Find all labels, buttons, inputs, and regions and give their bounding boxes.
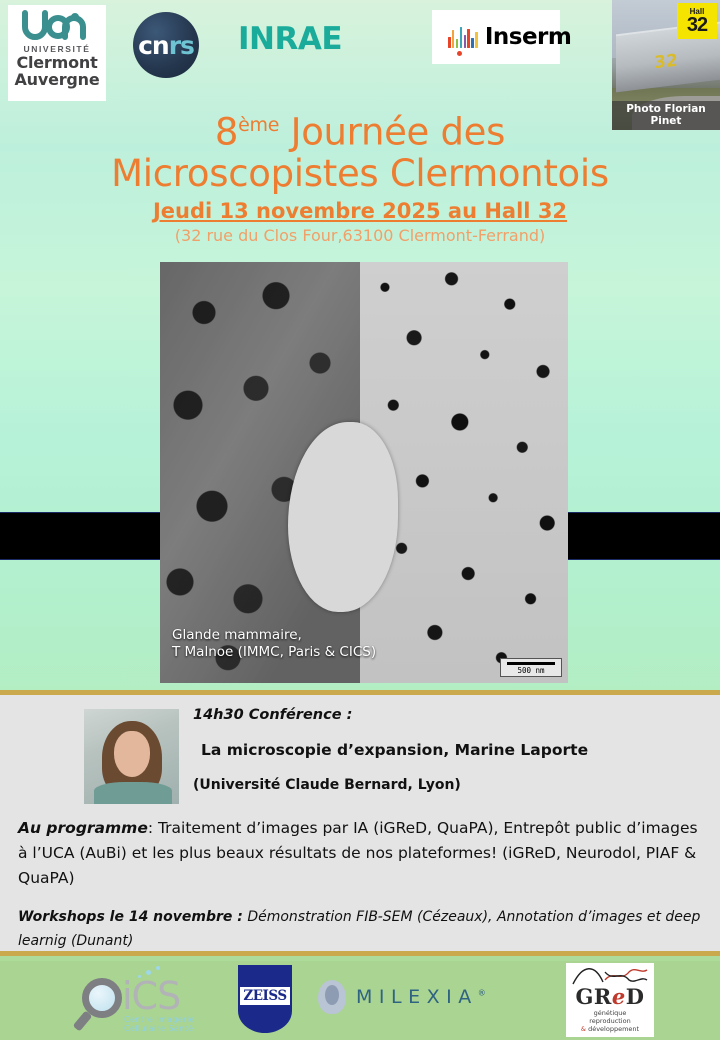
micrograph-caption: Glande mammaire, T Malnoe (IMMC, Paris &… <box>172 627 376 661</box>
program-card: 14h30 Conférence : La microscopie d’expa… <box>0 690 720 956</box>
micrograph-caption-line2: T Malnoe (IMMC, Paris & CICS) <box>172 644 376 661</box>
zeiss-label: ZEISS <box>240 987 289 1005</box>
hall32-badge: Hall 32 <box>677 3 717 39</box>
inserm-bars-icon <box>448 26 478 48</box>
uca-logo: UNIVERSITÉ Clermont Auvergne <box>8 5 106 101</box>
event-ordinal: 8 <box>215 110 238 153</box>
event-title-line1: 8ème Journée des <box>0 104 720 153</box>
inrae-logo: INRAE <box>238 18 370 60</box>
uca-clermont-label: Clermont <box>16 54 97 71</box>
gred-d: D <box>626 984 645 1009</box>
keynote-row: 14h30 Conférence : La microscopie d’expa… <box>18 703 702 804</box>
milexia-logo: MILEXIA® <box>318 979 518 1015</box>
avatar-body <box>94 782 172 804</box>
cnrs-label: cnrs <box>138 31 194 60</box>
gred-label: GReD <box>566 986 654 1008</box>
event-title-line2: Microscopistes Clermontois <box>0 153 720 195</box>
gred-sub-line2: reproduction <box>566 1017 654 1025</box>
cics-logo: iCS Centre Imagerie Cellulaire Santé <box>78 968 218 1028</box>
inserm-logo: Inserm <box>432 10 560 64</box>
program-label: Au programme <box>18 819 148 837</box>
poster-root: UNIVERSITÉ Clermont Auvergne cnrs INRAE … <box>0 0 720 1040</box>
avatar-face <box>114 731 150 777</box>
inserm-dot-icon <box>457 51 462 56</box>
zeiss-logo: ZEISS <box>238 965 292 1033</box>
micrograph-scalebar: 500 nm <box>500 658 562 677</box>
gred-sub-dev: développement <box>586 1025 639 1033</box>
milexia-label: MILEXIA® <box>356 986 492 1008</box>
event-title-rest: Journée des <box>279 110 505 153</box>
uca-mark-icon <box>19 9 95 43</box>
cics-tagline-label: Centre Imagerie Cellulaire Santé <box>124 1015 218 1033</box>
workshops-paragraph: Workshops le 14 novembre : Démonstration… <box>18 905 702 953</box>
gred-subtitle: génétique reproduction & développement <box>566 1009 654 1033</box>
magnifier-handle-icon <box>73 1010 93 1031</box>
workshops-label: Workshops le 14 novembre : <box>18 909 243 925</box>
keynote-affiliation-label: (Université Claude Bernard, Lyon) <box>193 777 702 793</box>
uca-auvergne-label: Auvergne <box>14 71 99 88</box>
gred-sub-line1: génétique <box>566 1009 654 1017</box>
sponsor-logo-strip: iCS Centre Imagerie Cellulaire Santé ZEI… <box>0 961 720 1040</box>
scalebar-label: 500 nm <box>503 666 559 675</box>
gred-e: e <box>612 984 626 1009</box>
cics-label: iCS <box>122 974 180 1018</box>
gred-gr: GR <box>576 984 612 1009</box>
micrograph-caption-line1: Glande mammaire, <box>172 627 376 644</box>
micrograph-image: Glande mammaire, T Malnoe (IMMC, Paris &… <box>160 262 568 683</box>
gred-sub-line3: & développement <box>566 1025 654 1033</box>
event-address-label: (32 rue du Clos Four,63100 Clermont-Ferr… <box>0 225 720 247</box>
milexia-word: MILEXIA <box>356 986 478 1008</box>
milexia-mark-icon <box>318 980 346 1014</box>
building-number-label: 32 <box>654 51 678 73</box>
inserm-label: Inserm <box>485 24 572 50</box>
title-block: 8ème Journée des Microscopistes Clermont… <box>0 104 720 247</box>
gred-dna-icon <box>566 966 654 986</box>
hall-badge-number-label: 32 <box>687 15 707 35</box>
keynote-time-label: 14h30 Conférence : <box>193 707 702 723</box>
keynote-title-label: La microscopie d’expansion, Marine Lapor… <box>193 741 702 759</box>
event-date-label: Jeudi 13 novembre 2025 au Hall 32 <box>0 198 720 224</box>
event-ordinal-suffix: ème <box>238 114 279 136</box>
speaker-avatar <box>84 709 179 804</box>
program-paragraph: Au programme: Traitement d’images par IA… <box>18 816 702 891</box>
gred-logo: GReD génétique reproduction & développem… <box>566 963 654 1037</box>
inrae-label: INRAE <box>238 21 342 57</box>
scalebar-line-icon <box>507 662 555 665</box>
cnrs-logo: cnrs <box>133 12 199 78</box>
milexia-reg-mark: ® <box>478 989 493 998</box>
keynote-text-block: 14h30 Conférence : La microscopie d’expa… <box>193 703 702 793</box>
